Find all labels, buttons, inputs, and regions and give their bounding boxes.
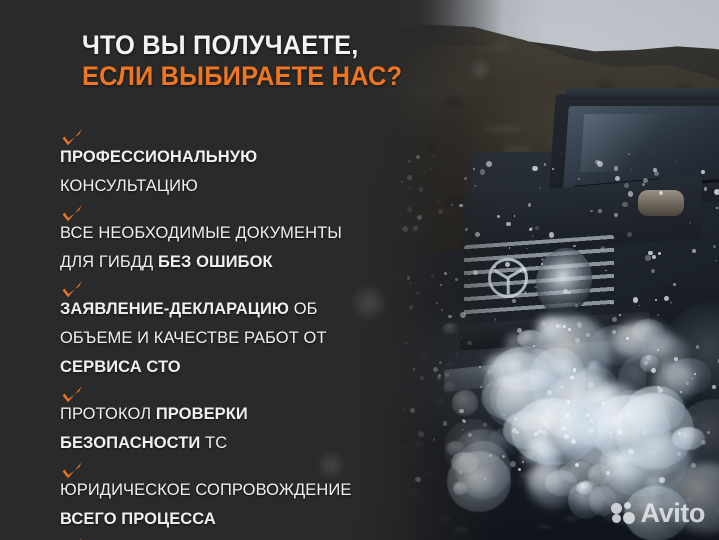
benefit-line: ОБЪЕМЕ И КАЧЕСТВЕ РАБОТ ОТ — [60, 323, 516, 352]
plain-text: ДЛЯ ГИБДД — [60, 252, 158, 271]
benefit-text: ПРОТОКОЛ ПРОВЕРКИБЕЗОПАСНОСТИ ТС — [60, 399, 530, 457]
plain-text: ТС — [200, 433, 227, 452]
emphasis-text: ПРОФЕССИОНАЛЬНУЮ — [60, 147, 257, 166]
avito-watermark: Avito — [611, 498, 706, 528]
benefit-line: ЮРИДИЧЕСКОЕ СОПРОВОЖДЕНИЕ — [60, 475, 516, 504]
benefit-line: ЗАЯВЛЕНИЕ-ДЕКЛАРАЦИЮ ОБ — [60, 294, 516, 323]
benefit-text: ЮРИДИЧЕСКОЕ СОПРОВОЖДЕНИЕВСЕГО ПРОЦЕССА — [60, 475, 530, 533]
headline-line-1: ЧТО ВЫ ПОЛУЧАЕТЕ, — [82, 30, 477, 61]
emphasis-text: ВСЕГО ПРОЦЕССА — [60, 509, 216, 528]
plain-text: КОНСУЛЬТАЦИЮ — [60, 176, 198, 195]
emphasis-text: ЗАЯВЛЕНИЕ-ДЕКЛАРАЦИЮ — [60, 299, 289, 318]
benefit-line: ПРОФЕССИОНАЛЬНУЮ — [60, 142, 516, 171]
benefit-item: УСТАНОВКУ ТОЛЬКО ОРИГИНАЛЬНОГОСЕРТИФИЦИР… — [60, 533, 530, 540]
headline-line-2: ЕСЛИ ВЫБИРАЕТЕ НАС? — [82, 61, 477, 92]
benefit-line: ДЛЯ ГИБДД БЕЗ ОШИБОК — [60, 247, 516, 276]
plain-text: ПРОТОКОЛ — [60, 404, 156, 423]
avito-dots-logo-icon — [611, 502, 636, 524]
plain-text: ВСЕ НЕОБХОДИМЫЕ ДОКУМЕНТЫ — [60, 223, 342, 242]
benefit-item: ПРОТОКОЛ ПРОВЕРКИБЕЗОПАСНОСТИ ТС — [60, 381, 530, 457]
benefit-line: БЕЗОПАСНОСТИ ТС — [60, 428, 516, 457]
emphasis-text: ПРОВЕРКИ — [156, 404, 248, 423]
promo-poster: ЧТО ВЫ ПОЛУЧАЕТЕ, ЕСЛИ ВЫБИРАЕТЕ НАС? ПР… — [0, 0, 719, 540]
emphasis-text: БЕЗОПАСНОСТИ — [60, 433, 200, 452]
headline: ЧТО ВЫ ПОЛУЧАЕТЕ, ЕСЛИ ВЫБИРАЕТЕ НАС? — [82, 30, 502, 92]
check-icon — [60, 535, 84, 540]
benefit-line: КОНСУЛЬТАЦИЮ — [60, 171, 516, 200]
benefit-item: ПРОФЕССИОНАЛЬНУЮКОНСУЛЬТАЦИЮ — [60, 124, 530, 200]
benefit-item: ВСЕ НЕОБХОДИМЫЕ ДОКУМЕНТЫДЛЯ ГИБДД БЕЗ О… — [60, 200, 530, 276]
plain-text: ОБ — [289, 299, 318, 318]
benefit-item: ЮРИДИЧЕСКОЕ СОПРОВОЖДЕНИЕВСЕГО ПРОЦЕССА — [60, 457, 530, 533]
benefit-line: ВСЕ НЕОБХОДИМЫЕ ДОКУМЕНТЫ — [60, 218, 516, 247]
benefit-line: СЕРВИСА СТО — [60, 352, 516, 381]
emphasis-text: БЕЗ ОШИБОК — [158, 252, 273, 271]
plain-text: ЮРИДИЧЕСКОЕ СОПРОВОЖДЕНИЕ — [60, 480, 351, 499]
benefit-item: ЗАЯВЛЕНИЕ-ДЕКЛАРАЦИЮ ОБОБЪЕМЕ И КАЧЕСТВЕ… — [60, 276, 530, 381]
poster-content: ЧТО ВЫ ПОЛУЧАЕТЕ, ЕСЛИ ВЫБИРАЕТЕ НАС? ПР… — [0, 0, 719, 540]
plain-text: ОБЪЕМЕ И КАЧЕСТВЕ РАБОТ ОТ — [60, 328, 327, 347]
benefit-text: ЗАЯВЛЕНИЕ-ДЕКЛАРАЦИЮ ОБОБЪЕМЕ И КАЧЕСТВЕ… — [60, 294, 530, 381]
emphasis-text: СЕРВИСА СТО — [60, 357, 181, 376]
benefit-text: ПРОФЕССИОНАЛЬНУЮКОНСУЛЬТАЦИЮ — [60, 142, 530, 200]
avito-wordmark: Avito — [641, 500, 706, 527]
benefit-text: ВСЕ НЕОБХОДИМЫЕ ДОКУМЕНТЫДЛЯ ГИБДД БЕЗ О… — [60, 218, 530, 276]
benefit-line: ВСЕГО ПРОЦЕССА — [60, 504, 516, 533]
benefit-line: ПРОТОКОЛ ПРОВЕРКИ — [60, 399, 516, 428]
benefits-list: ПРОФЕССИОНАЛЬНУЮКОНСУЛЬТАЦИЮВСЕ НЕОБХОДИ… — [60, 124, 530, 540]
